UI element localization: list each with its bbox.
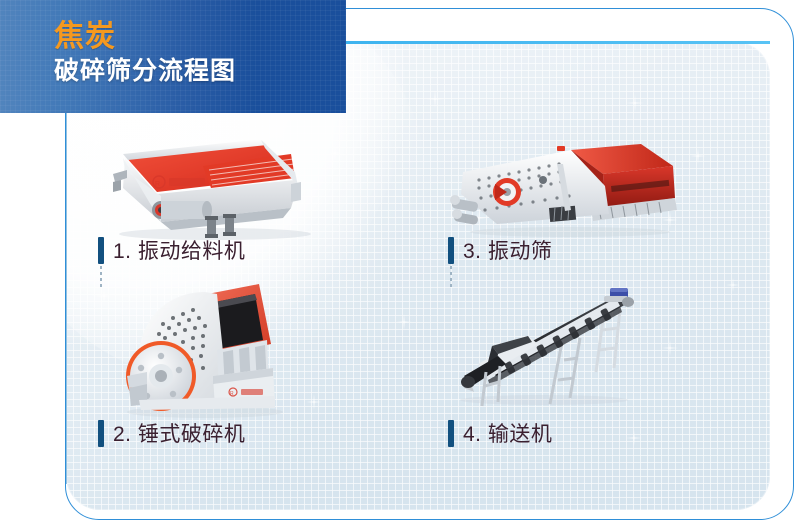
panel-left-rule [66, 112, 67, 484]
svg-text:R: R [230, 391, 234, 397]
vibrating-feeder-icon: R [95, 126, 345, 241]
step-label-1: 1. 振动给料机 [98, 235, 245, 265]
step-label-text: 3. 振动筛 [463, 235, 552, 265]
hammer-crusher-icon: R [105, 272, 305, 420]
step-label-text: 4. 输送机 [463, 418, 552, 448]
step-accent-bar [448, 237, 454, 264]
step-card-1[interactable]: R [95, 126, 345, 241]
step-label-2: 2. 锤式破碎机 [98, 418, 245, 448]
step-label-4: 4. 输送机 [448, 418, 552, 448]
step-label-3: 3. 振动筛 [448, 235, 552, 265]
vibrating-screen-icon [445, 128, 685, 240]
panel-top-accent-rule [345, 41, 770, 44]
step-label-text: 1. 振动给料机 [113, 235, 245, 265]
svg-text:R: R [155, 181, 160, 188]
step-card-2[interactable]: R [105, 272, 305, 420]
title-banner: 焦炭 破碎筛分流程图 [0, 0, 346, 113]
step-accent-bar [448, 420, 454, 447]
banner-subtitle: 破碎筛分流程图 [54, 59, 236, 84]
step-label-text: 2. 锤式破碎机 [113, 418, 245, 448]
step-connector-dots [100, 266, 102, 288]
step-accent-bar [98, 420, 104, 447]
step-accent-bar [98, 237, 104, 264]
step-card-3[interactable] [445, 128, 685, 240]
belt-conveyor-icon [452, 280, 652, 412]
banner-title: 焦炭 [54, 22, 116, 52]
step-card-4[interactable] [452, 280, 652, 412]
